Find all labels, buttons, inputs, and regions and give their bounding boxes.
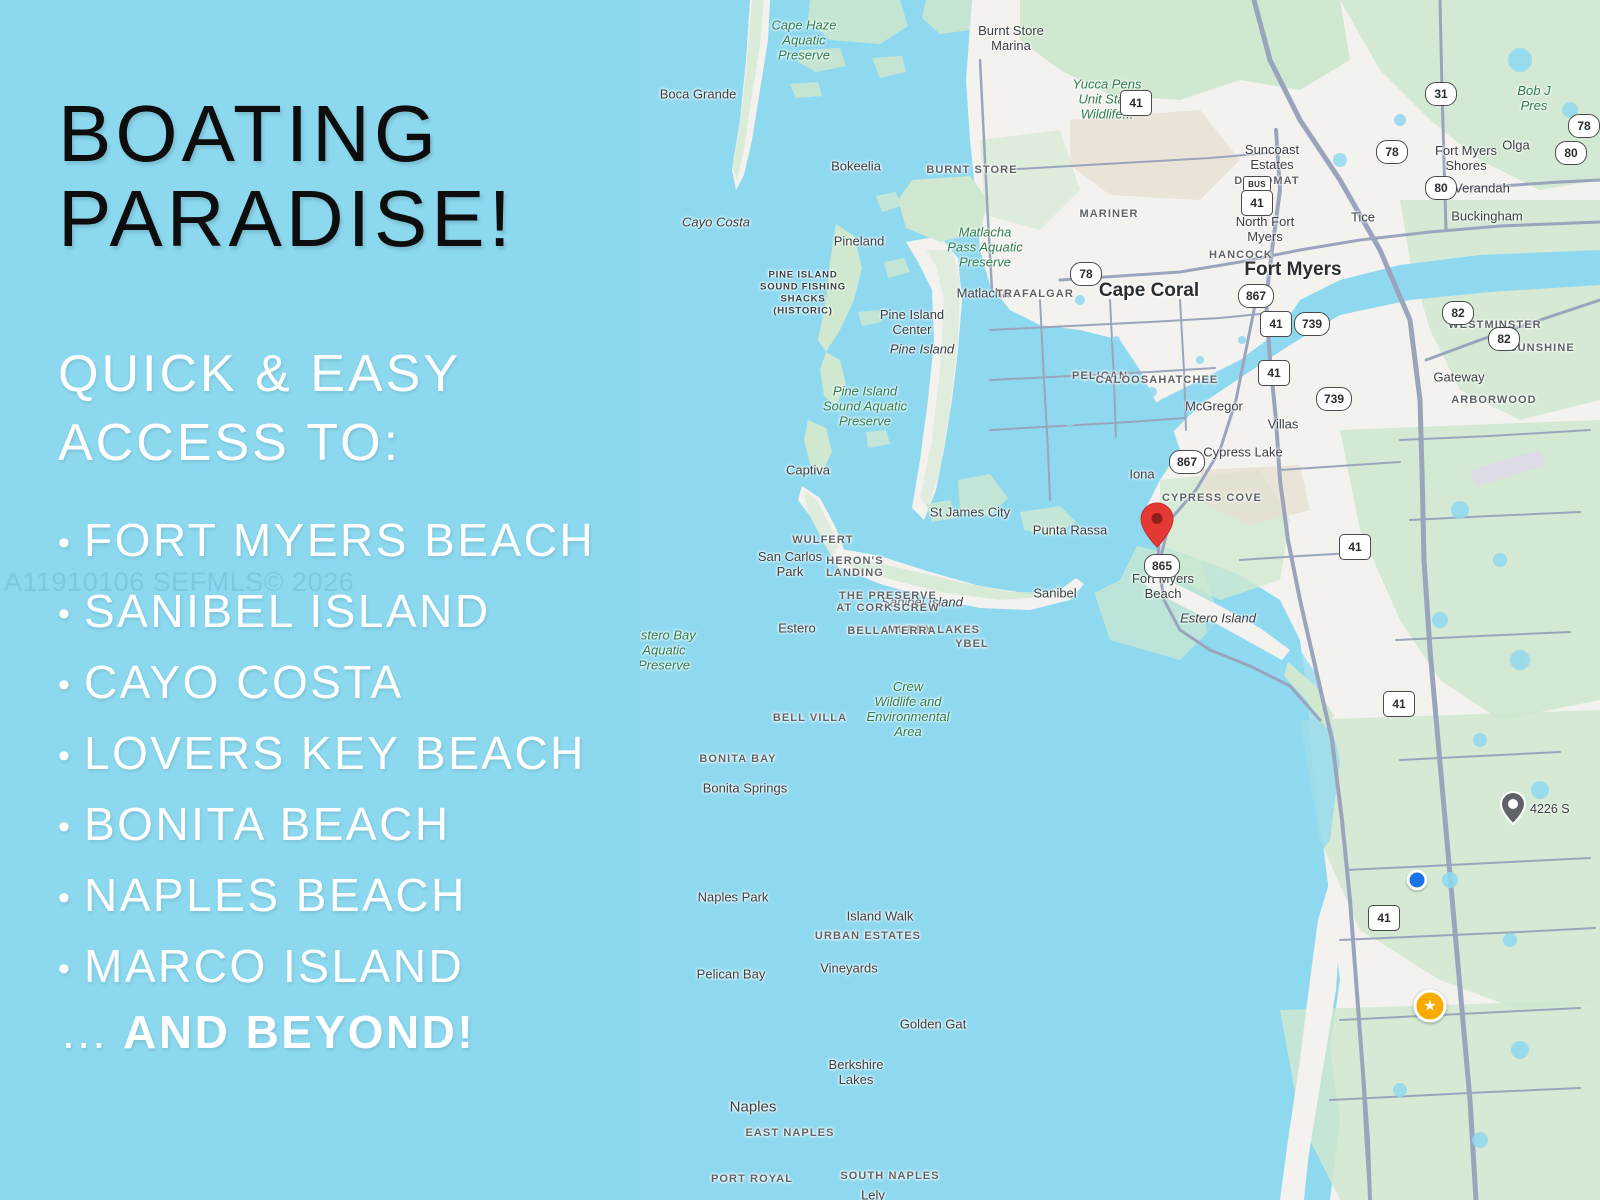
closing-dots: ...	[62, 1006, 108, 1058]
destination-item: •BONITA BEACH	[58, 789, 798, 860]
destination-label: MARCO ISLAND	[84, 940, 464, 992]
promo-panel: BOATING PARADISE! QUICK & EASY ACCESS TO…	[0, 0, 660, 1200]
destination-item: •CAYO COSTA	[58, 647, 798, 718]
destination-label: CAYO COSTA	[84, 656, 404, 708]
closing-line: ... AND BEYOND!	[62, 1005, 475, 1059]
destination-item: •NAPLES BEACH	[58, 860, 798, 931]
headline-line-2: PARADISE!	[58, 181, 658, 257]
destination-label: NAPLES BEACH	[84, 869, 467, 921]
destination-item: •FORT MYERS BEACH	[58, 505, 798, 576]
headline-line-1: BOATING	[58, 89, 440, 178]
property-location-pin[interactable]	[1140, 502, 1174, 548]
mls-watermark: A11910106 SEFMLS© 2026	[4, 567, 354, 598]
subheading-line-2: ACCESS TO:	[58, 409, 658, 478]
poi-address: 4226 S	[1530, 802, 1570, 816]
subheading: QUICK & EASY ACCESS TO:	[58, 340, 658, 477]
destination-item: •LOVERS KEY BEACH	[58, 718, 798, 789]
recently-sold-poi-label: 4226 S	[1530, 802, 1570, 818]
destination-item: •MARCO ISLAND	[58, 931, 798, 1002]
destination-label: LOVERS KEY BEACH	[84, 727, 586, 779]
bullet-icon: •	[58, 801, 84, 854]
blue-dot-poi-icon[interactable]	[1407, 870, 1428, 891]
listing-flyer: Cape HazeAquaticPreserveBoca GrandeCayo …	[0, 0, 1600, 1200]
destination-label: BONITA BEACH	[84, 798, 451, 850]
closing-text: AND BEYOND!	[123, 1006, 475, 1058]
recently-sold-poi-icon[interactable]	[1500, 791, 1526, 825]
starred-place-icon[interactable]: ★	[1414, 990, 1447, 1023]
bullet-icon: •	[58, 659, 84, 712]
bullet-icon: •	[58, 730, 84, 783]
destination-label: FORT MYERS BEACH	[84, 514, 595, 566]
bullet-icon: •	[58, 517, 84, 570]
page-title: BOATING PARADISE!	[58, 96, 658, 257]
bullet-icon: •	[58, 943, 84, 996]
subheading-line-1: QUICK & EASY	[58, 340, 658, 409]
bullet-icon: •	[58, 872, 84, 925]
